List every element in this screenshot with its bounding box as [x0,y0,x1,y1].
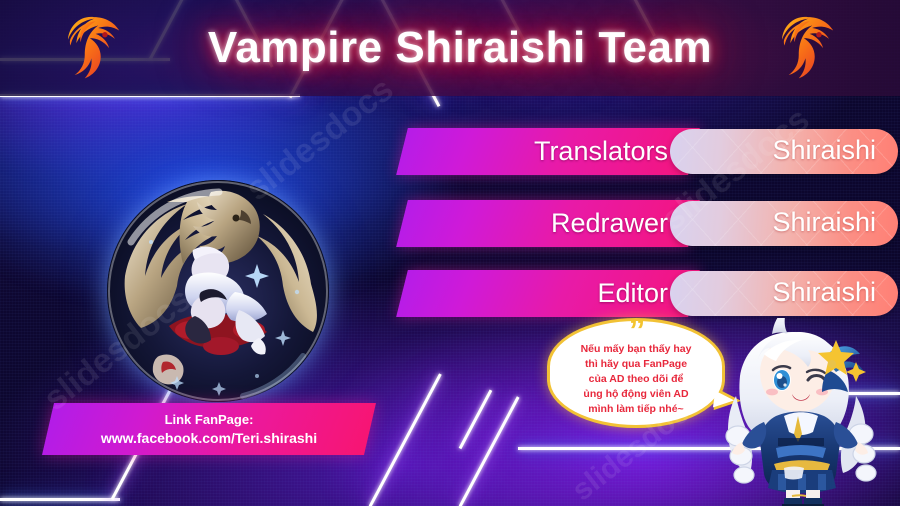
credit-row: Editor Shiraishi [402,270,896,317]
credit-name-label: Shiraishi [670,270,898,315]
artwork-circle [107,180,329,402]
credit-name-label: Shiraishi [670,200,898,245]
phoenix-logo-left [52,7,136,91]
page-title: Vampire Shiraishi Team [150,16,770,80]
fanpage-label: Link FanPage: [165,412,254,427]
neon-line-horizontal-5 [0,498,120,501]
fanpage-url: www.facebook.com/Teri.shirashi [101,430,317,446]
bubble-line: Nếu mấy bạn thấy hay [557,342,715,357]
credit-role-label: Redrawer [402,200,694,247]
speech-bubble: ” Nếu mấy bạn thấy hay thì hãy qua FanPa… [547,318,725,428]
fanpage-banner-text: Link FanPage: www.facebook.com/Teri.shir… [48,403,370,455]
bubble-line: ủng hộ động viên AD [557,387,715,402]
credit-name-label: Shiraishi [670,128,898,173]
credit-role-label: Editor [402,270,694,317]
speech-bubble-text: Nếu mấy bạn thấy hay thì hãy qua FanPage… [557,342,715,417]
credit-row: Redrawer Shiraishi [402,200,896,247]
bubble-line: thì hãy qua FanPage [557,357,715,372]
chibi-mascot [706,318,896,506]
phoenix-logo-right [766,7,850,91]
credit-row: Translators Shiraishi [402,128,896,175]
slide-canvas: Vampire Shiraishi Team Translators Shira… [0,0,900,506]
bubble-line: của AD theo dõi để [557,372,715,387]
bubble-line: mình làm tiếp nhé~ [557,402,715,417]
fanpage-banner[interactable]: Link FanPage: www.facebook.com/Teri.shir… [48,403,370,455]
credit-role-label: Translators [402,128,694,175]
